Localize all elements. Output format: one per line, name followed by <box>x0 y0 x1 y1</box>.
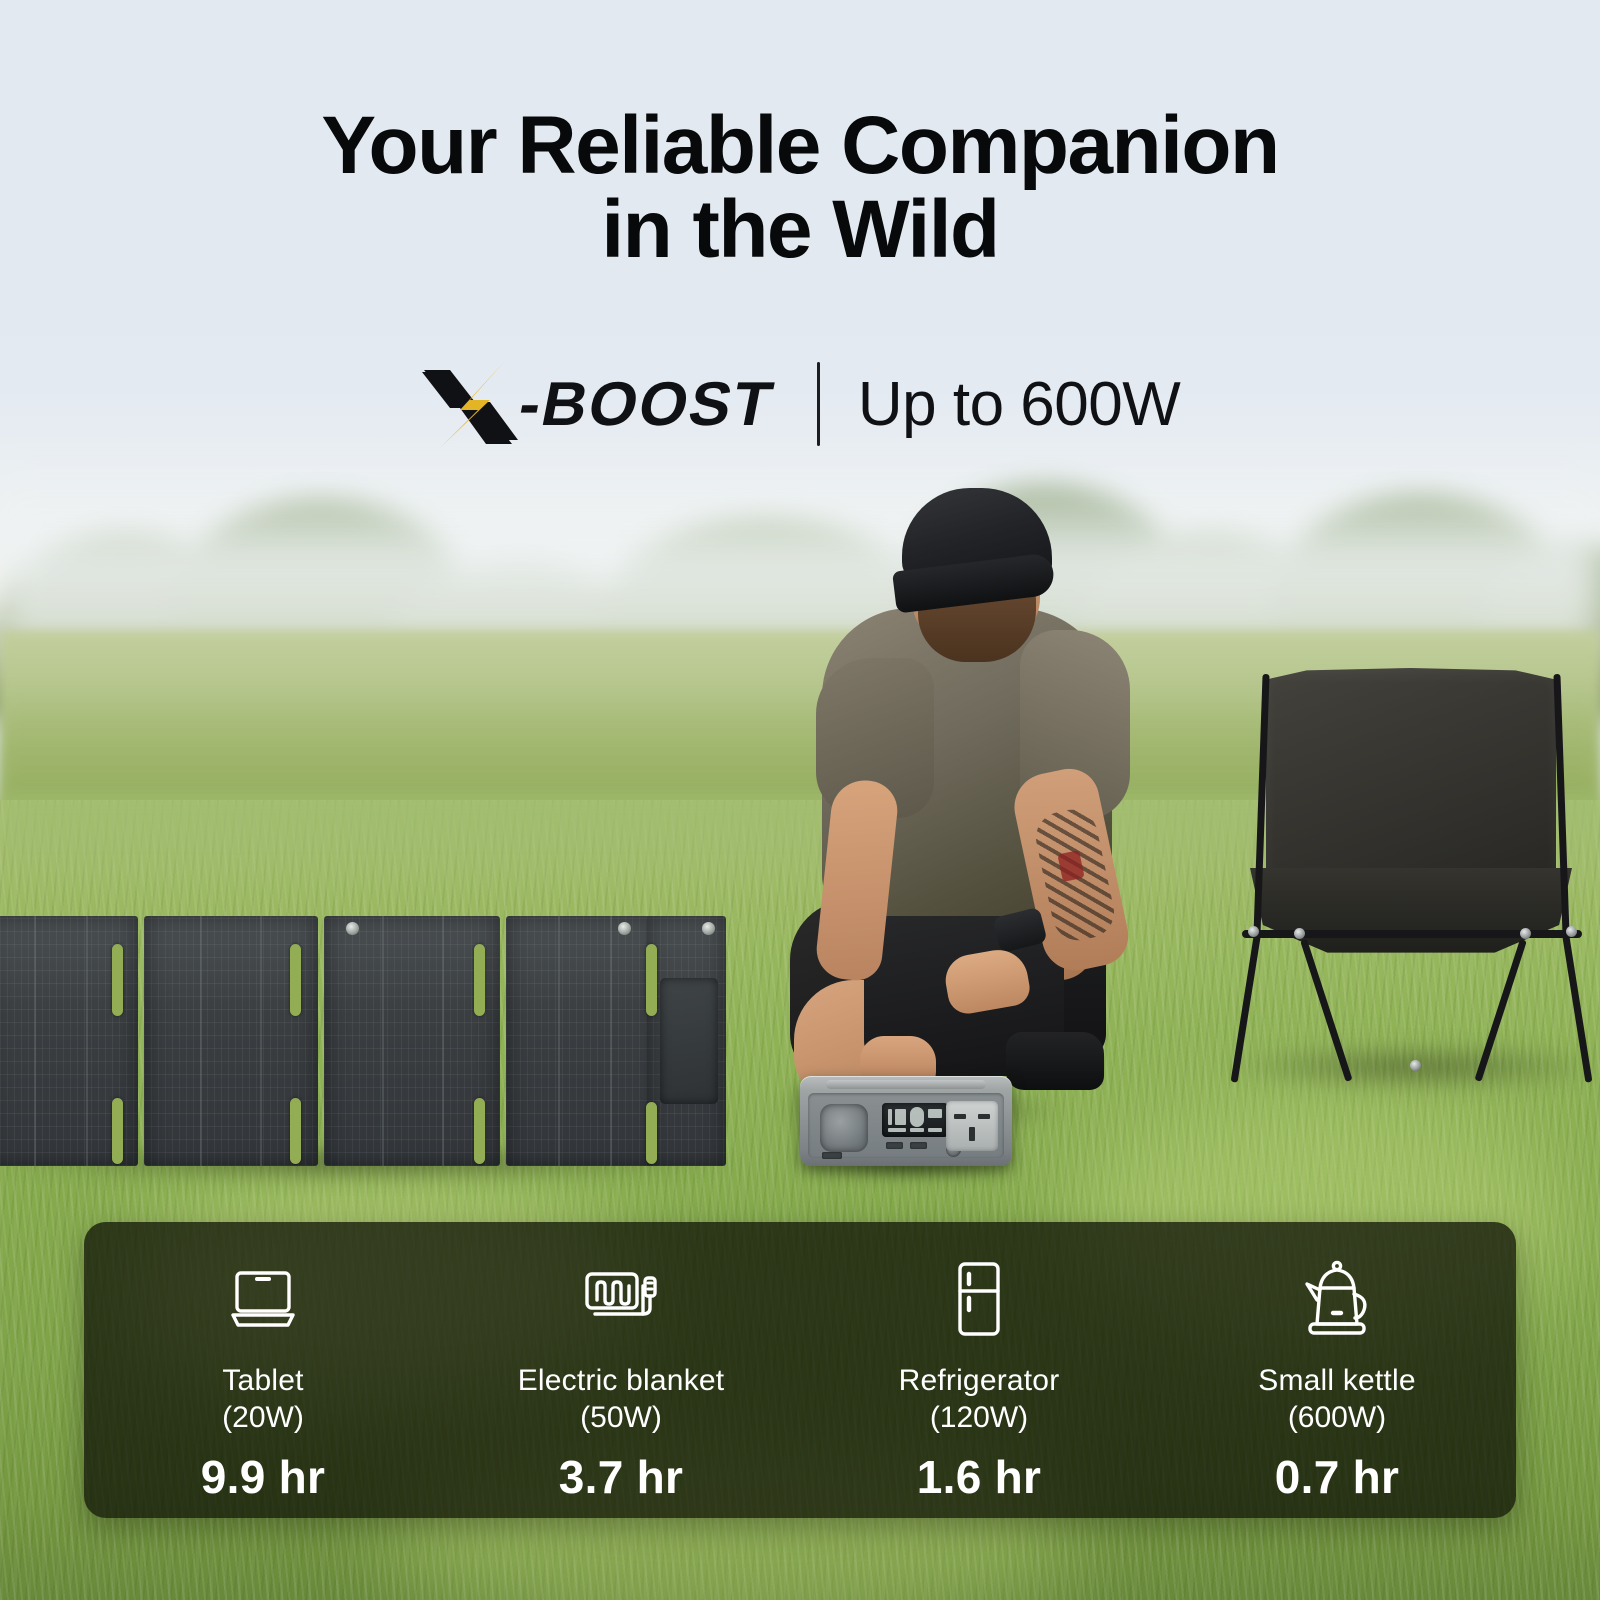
spec-item-electric-blanket: Electric blanket (50W) 3.7 hr <box>442 1222 800 1504</box>
spec-label: Refrigerator <box>899 1364 1060 1399</box>
spec-item-small-kettle: Small kettle (600W) 0.7 hr <box>1158 1222 1516 1504</box>
chair-backrest <box>1266 668 1556 900</box>
badge-divider <box>817 362 820 446</box>
tablet-icon <box>226 1256 300 1342</box>
brand-name: -BOOST <box>513 369 780 440</box>
solar-panel-kickstand-pouch <box>660 978 718 1104</box>
spec-wattage: (120W) <box>930 1399 1028 1436</box>
xboost-logo: -BOOST <box>420 352 773 456</box>
spec-runtime: 3.7 hr <box>559 1450 684 1504</box>
promo-banner: Your Reliable Companion in the Wild -BOO… <box>0 0 1600 1600</box>
refrigerator-icon <box>950 1256 1008 1342</box>
station-ac-socket <box>946 1101 998 1151</box>
spec-wattage: (20W) <box>222 1399 304 1436</box>
headline-line-2: in the Wild <box>0 188 1600 272</box>
person-crouching <box>760 480 1180 1120</box>
spec-label: Electric blanket <box>518 1364 725 1399</box>
spec-label: Small kettle <box>1258 1364 1415 1399</box>
spec-label: Tablet <box>222 1364 303 1399</box>
foldable-solar-panel <box>0 916 726 1166</box>
spec-runtime: 0.7 hr <box>1275 1450 1400 1504</box>
portable-power-station <box>800 1076 1012 1166</box>
xboost-badge: -BOOST Up to 600W <box>0 352 1600 456</box>
station-handle <box>826 1080 986 1089</box>
kettle-icon <box>1300 1256 1374 1342</box>
spec-item-refrigerator: Refrigerator (120W) 1.6 hr <box>800 1222 1158 1504</box>
spec-runtime: 1.6 hr <box>917 1450 1042 1504</box>
station-display <box>882 1103 948 1137</box>
station-fan-vent <box>820 1104 868 1152</box>
camp-chair <box>1228 668 1600 1088</box>
page-title: Your Reliable Companion in the Wild <box>0 104 1600 273</box>
electric-blanket-icon <box>581 1256 661 1342</box>
spec-item-tablet: Tablet (20W) 9.9 hr <box>84 1222 442 1504</box>
x-bolt-icon <box>420 356 524 452</box>
power-output-label: Up to 600W <box>858 369 1180 440</box>
spec-runtime: 9.9 hr <box>201 1450 326 1504</box>
headline-line-1: Your Reliable Companion <box>321 100 1278 191</box>
runtime-spec-panel: Tablet (20W) 9.9 hr Electric blanket (50… <box>84 1222 1516 1518</box>
spec-wattage: (50W) <box>580 1399 662 1436</box>
spec-wattage: (600W) <box>1288 1399 1386 1436</box>
